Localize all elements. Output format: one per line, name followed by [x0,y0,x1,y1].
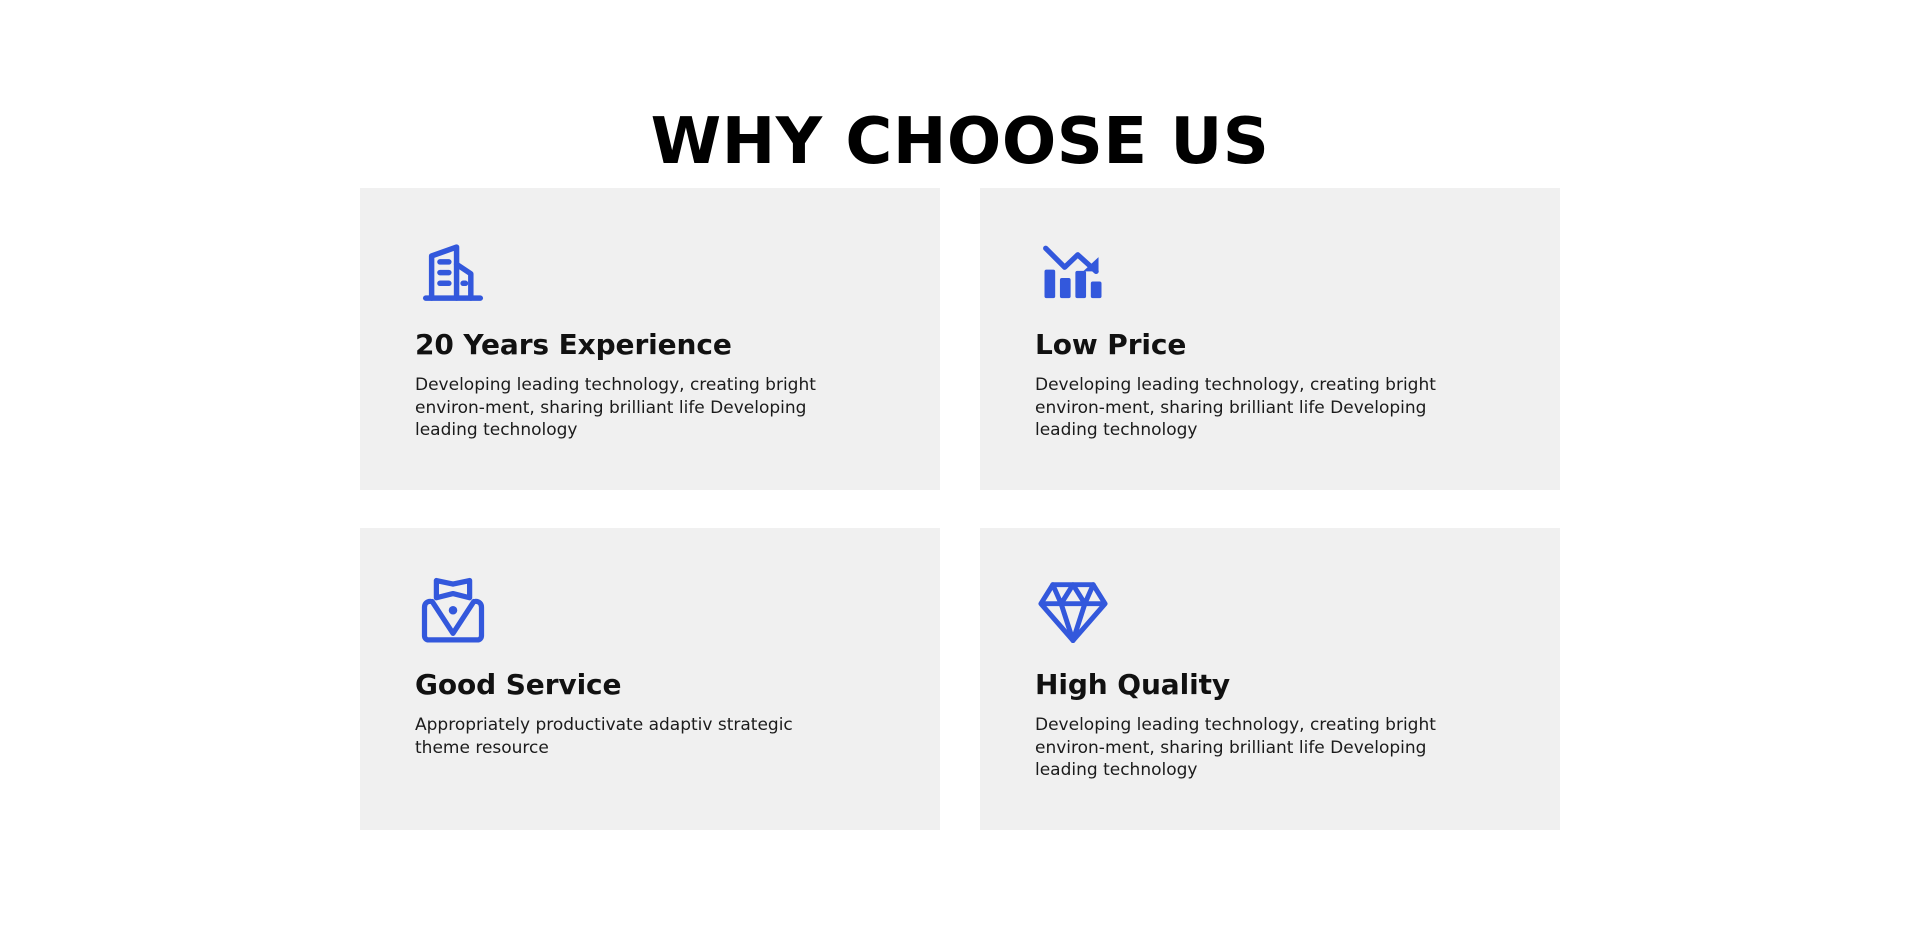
feature-card-good-service[interactable]: Good Service Appropriately productivate … [360,528,940,830]
feature-card-20-years-experience[interactable]: 20 Years Experience Developing leading t… [360,188,940,490]
bow-tie-suit-icon [415,574,491,650]
why-choose-us-section: WHY CHOOSE US 20 Years Experience [0,0,1920,930]
diamond-icon [1035,574,1111,650]
page-title: WHY CHOOSE US [0,105,1920,179]
card-title: Good Service [415,668,892,702]
card-description: Developing leading technology, creating … [1035,374,1455,442]
feature-card-low-price[interactable]: Low Price Developing leading technology,… [980,188,1560,490]
card-description: Appropriately productivate adaptiv strat… [415,714,835,759]
card-title: Low Price [1035,328,1512,362]
office-building-icon [415,234,491,310]
feature-card-high-quality[interactable]: High Quality Developing leading technolo… [980,528,1560,830]
card-description: Developing leading technology, creating … [415,374,835,442]
card-title: High Quality [1035,668,1512,702]
card-description: Developing leading technology, creating … [1035,714,1455,782]
declining-bar-chart-icon [1035,234,1111,310]
card-title: 20 Years Experience [415,328,892,362]
feature-cards-grid: 20 Years Experience Developing leading t… [360,188,1560,830]
